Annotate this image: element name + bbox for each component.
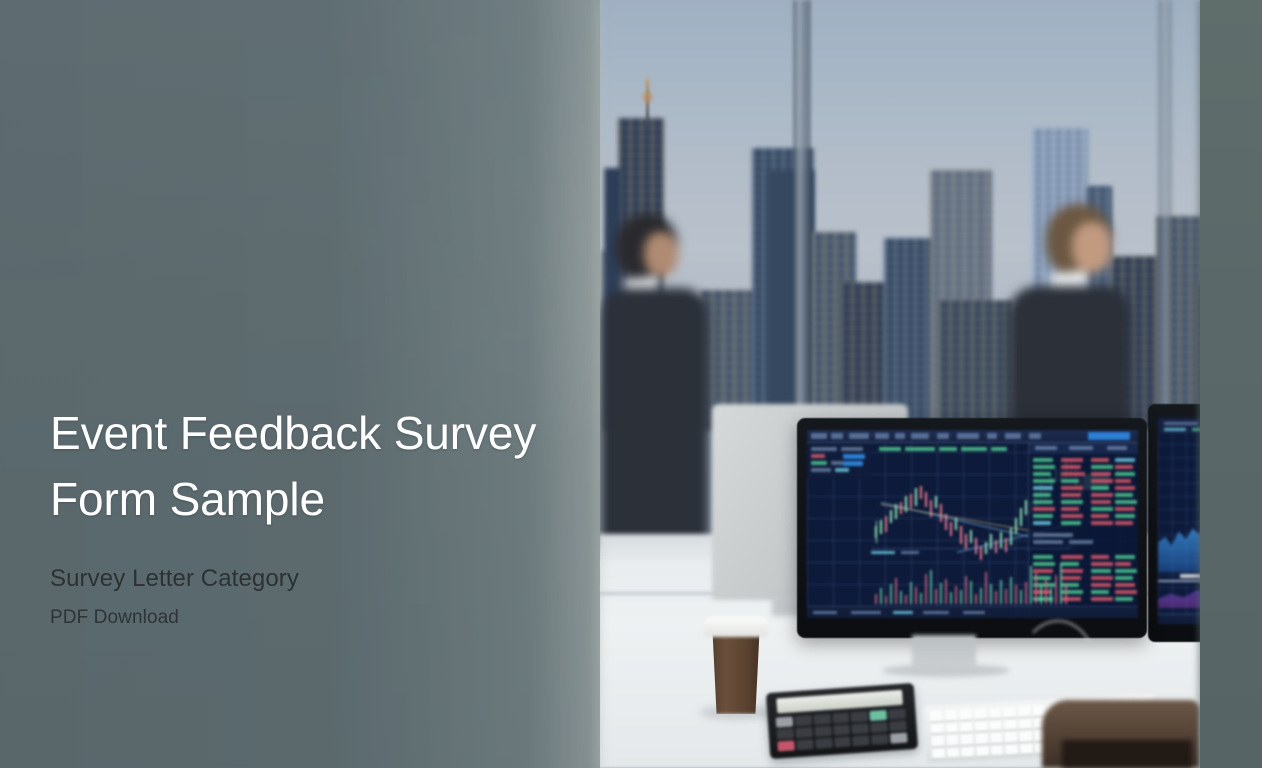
slide-canvas: Event Feedback Survey Form Sample Survey… (0, 0, 1262, 768)
page-title: Event Feedback Survey Form Sample (50, 400, 570, 532)
trading-terminal-screen (807, 430, 1138, 618)
window-mullion-icon (793, 0, 811, 420)
coffee-cup (709, 626, 763, 714)
calculator (766, 683, 918, 759)
left-overlay-tint (0, 0, 600, 768)
window-mullion-icon (1158, 0, 1172, 420)
monitor-base (882, 664, 1010, 677)
volume-panel (871, 548, 1071, 604)
coffee-cup-lid (704, 617, 768, 637)
office-chair-shadow (1062, 740, 1192, 768)
trading-monitor (797, 418, 1147, 638)
left-panel-edge (592, 0, 606, 768)
right-overlay-band (1200, 0, 1262, 768)
title-block: Event Feedback Survey Form Sample Survey… (50, 400, 570, 630)
skyline-spire-light (643, 92, 652, 102)
skyline-spire (646, 78, 649, 126)
calculator-keypad (776, 709, 908, 752)
category-label: Survey Letter Category (50, 564, 570, 594)
pdf-download-label[interactable]: PDF Download (50, 606, 570, 630)
left-overlay-panel (0, 0, 600, 768)
